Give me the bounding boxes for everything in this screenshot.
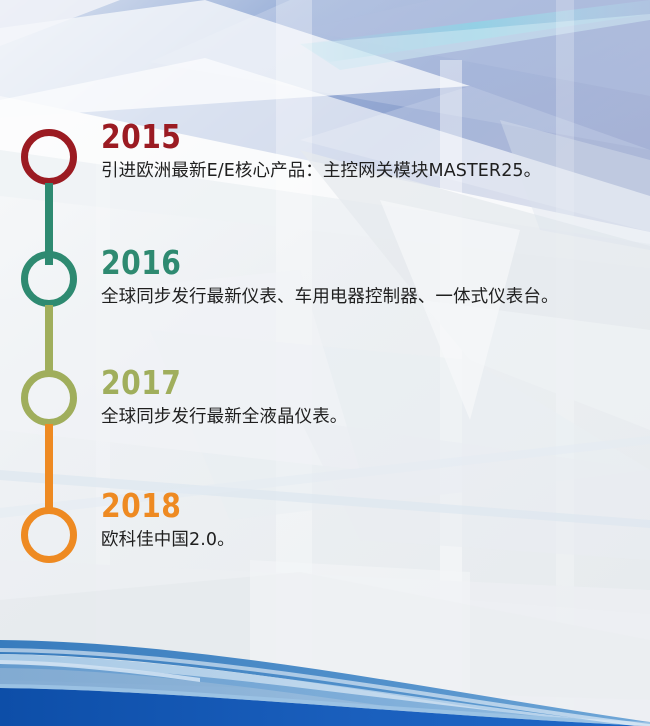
timeline-year: 2018 <box>101 489 614 522</box>
milestone-ring-icon <box>21 370 77 426</box>
timeline-node <box>21 251 77 307</box>
timeline-entry-text: 2015 引进欧洲最新E/E核心产品：主控网关模块MASTER25。 <box>101 120 641 183</box>
timeline-node <box>21 370 77 426</box>
timeline-year: 2015 <box>101 120 614 153</box>
milestone-ring-icon <box>21 129 77 185</box>
timeline-year: 2017 <box>101 366 614 399</box>
infographic-canvas: 2015 引进欧洲最新E/E核心产品：主控网关模块MASTER25。 2016 … <box>0 0 650 726</box>
timeline: 2015 引进欧洲最新E/E核心产品：主控网关模块MASTER25。 2016 … <box>0 0 650 726</box>
timeline-connector <box>45 424 53 509</box>
timeline-entry-text: 2018 欧科佳中国2.0。 <box>101 489 641 552</box>
milestone-ring-icon <box>21 251 77 307</box>
timeline-entry-text: 2016 全球同步发行最新仪表、车用电器控制器、一体式仪表台。 <box>101 246 641 309</box>
timeline-description: 全球同步发行最新全液晶仪表。 <box>101 406 629 429</box>
timeline-description: 引进欧洲最新E/E核心产品：主控网关模块MASTER25。 <box>101 160 629 183</box>
milestone-ring-icon <box>21 507 77 563</box>
timeline-year: 2016 <box>101 246 614 279</box>
timeline-description: 全球同步发行最新仪表、车用电器控制器、一体式仪表台。 <box>101 286 629 309</box>
timeline-node <box>21 507 77 563</box>
timeline-node <box>21 129 77 185</box>
timeline-description: 欧科佳中国2.0。 <box>101 529 629 552</box>
timeline-entry-text: 2017 全球同步发行最新全液晶仪表。 <box>101 366 641 429</box>
timeline-connector <box>45 305 53 373</box>
